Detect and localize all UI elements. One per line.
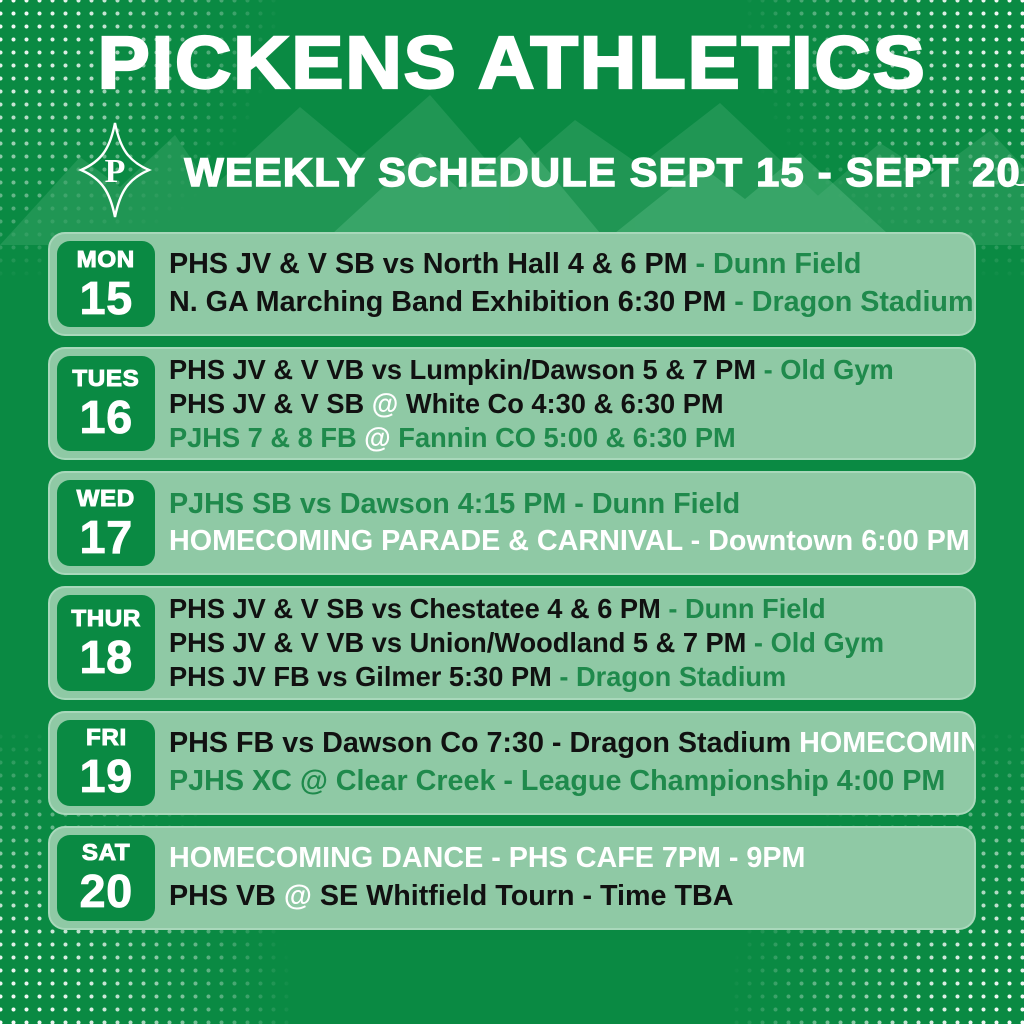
event-text-segment: - Dunn Field — [696, 248, 862, 280]
event-text-segment: PHS JV & V SB vs Chestatee 4 & 6 PM — [169, 593, 668, 624]
event-text-segment: PHS JV FB vs Gilmer 5:30 PM — [169, 661, 559, 692]
event-line: PHS JV & V VB vs Lumpkin/Dawson 5 & 7 PM… — [169, 353, 952, 387]
event-line: HOMECOMING DANCE - PHS CAFE 7PM - 9PM — [169, 840, 952, 878]
schedule-row-tues: TUES16PHS JV & V VB vs Lumpkin/Dawson 5 … — [48, 347, 976, 460]
day-of-week-label: THUR — [71, 607, 141, 630]
event-list: PJHS SB vs Dawson 4:15 PM - Dunn FieldHO… — [155, 473, 976, 573]
event-text-segment: @ — [372, 388, 399, 419]
event-text-segment: White Co 4:30 & 6:30 PM — [398, 388, 723, 419]
event-text-segment: - Old Gym — [754, 627, 884, 658]
event-text-segment: PJHS XC @ Clear Creek - League Champions… — [169, 765, 945, 797]
day-of-week-label: SAT — [82, 841, 130, 864]
schedule-row-thur: THUR18PHS JV & V SB vs Chestatee 4 & 6 P… — [48, 586, 976, 699]
event-text-segment: HOMECOMING DANCE - PHS CAFE 7PM - 9PM — [169, 842, 805, 874]
event-list: PHS JV & V SB vs North Hall 4 & 6 PM - D… — [155, 234, 976, 334]
day-number-label: 17 — [79, 514, 132, 560]
event-line: N. GA Marching Band Exhibition 6:30 PM -… — [169, 284, 973, 322]
page-title: PICKENS ATHLETICS — [0, 0, 1024, 100]
event-text-segment: PHS JV & V VB vs Lumpkin/Dawson 5 & 7 PM — [169, 354, 764, 385]
schedule-row-mon: MON15PHS JV & V SB vs North Hall 4 & 6 P… — [48, 232, 976, 336]
event-text-segment: PJHS 7 & 8 FB — [169, 422, 364, 453]
schedule-row-sat: SAT20HOMECOMING DANCE - PHS CAFE 7PM - 9… — [48, 826, 976, 930]
event-text-segment: SE Whitfield Tourn - Time TBA — [312, 880, 734, 912]
event-line: PHS JV & V SB vs Chestatee 4 & 6 PM - Du… — [169, 592, 952, 626]
event-text-segment: PJHS SB vs Dawson 4:15 PM - Dunn Field — [169, 488, 740, 520]
event-line: PHS VB @ SE Whitfield Tourn - Time TBA — [169, 878, 952, 916]
event-line: PJHS XC @ Clear Creek - League Champions… — [169, 763, 976, 801]
schedule-row-fri: FRI19PHS FB vs Dawson Co 7:30 - Dragon S… — [48, 711, 976, 815]
event-line: PHS JV & V SB vs North Hall 4 & 6 PM - D… — [169, 246, 973, 284]
event-text-segment: PHS JV & V SB — [169, 388, 372, 419]
day-badge: MON15 — [57, 241, 155, 327]
event-list: PHS FB vs Dawson Co 7:30 - Dragon Stadiu… — [155, 713, 976, 813]
weekly-schedule-list: MON15PHS JV & V SB vs North Hall 4 & 6 P… — [0, 220, 1024, 930]
day-number-label: 15 — [79, 275, 132, 321]
event-text-segment: HOMECOMING — [799, 727, 976, 759]
day-of-week-label: WED — [77, 487, 135, 510]
event-line: HOMECOMING PARADE & CARNIVAL - Downtown … — [169, 523, 970, 561]
event-text-segment: HOMECOMING PARADE & CARNIVAL - Downtown … — [169, 525, 970, 557]
poster-header: PICKENS ATHLETICS P WEEKLY SCHEDULE SEPT… — [0, 0, 1024, 220]
schedule-row-wed: WED17PJHS SB vs Dawson 4:15 PM - Dunn Fi… — [48, 471, 976, 575]
day-number-label: 19 — [79, 753, 132, 799]
event-text-segment: PHS VB — [169, 880, 284, 912]
day-of-week-label: TUES — [73, 367, 140, 390]
event-text-segment: PHS JV & V SB vs North Hall 4 & 6 PM — [169, 248, 696, 280]
day-badge: TUES16 — [57, 356, 155, 451]
event-line: PHS JV & V VB vs Union/Woodland 5 & 7 PM… — [169, 626, 952, 660]
pickens-diamond-logo: P — [78, 120, 152, 220]
day-number-label: 20 — [79, 868, 132, 914]
event-line: PHS FB vs Dawson Co 7:30 - Dragon Stadiu… — [169, 725, 976, 763]
event-text-segment: @ — [364, 422, 391, 453]
event-text-segment: - Dragon Stadium — [559, 661, 786, 692]
day-badge: WED17 — [57, 480, 155, 566]
day-of-week-label: FRI — [86, 726, 127, 749]
subtitle-text: WEEKLY SCHEDULE SEPT 15 - SEPT 20 — [174, 151, 1021, 196]
event-line: PJHS 7 & 8 FB @ Fannin CO 5:00 & 6:30 PM — [169, 421, 952, 455]
event-text-segment: - Dragon Stadium — [734, 286, 973, 318]
event-text-segment: - Old Gym — [764, 354, 894, 385]
event-text-segment: PHS FB vs Dawson Co 7:30 - Dragon Stadiu… — [169, 727, 799, 759]
day-number-label: 16 — [79, 394, 132, 440]
event-text-segment: - Dunn Field — [668, 593, 825, 624]
event-line: PHS JV FB vs Gilmer 5:30 PM - Dragon Sta… — [169, 660, 952, 694]
event-line: PJHS SB vs Dawson 4:15 PM - Dunn Field — [169, 486, 970, 524]
schedule-poster: PICKENS ATHLETICS P WEEKLY SCHEDULE SEPT… — [0, 0, 1024, 1024]
day-badge: FRI19 — [57, 720, 155, 806]
event-text-segment: Fannin CO 5:00 & 6:30 PM — [391, 422, 736, 453]
subtitle-bar: P WEEKLY SCHEDULE SEPT 15 - SEPT 20 — [0, 100, 1024, 220]
event-line: PHS JV & V SB @ White Co 4:30 & 6:30 PM — [169, 387, 952, 421]
event-text-segment: @ — [284, 880, 312, 912]
event-list: PHS JV & V SB vs Chestatee 4 & 6 PM - Du… — [155, 588, 974, 697]
day-badge: THUR18 — [57, 595, 155, 690]
day-of-week-label: MON — [77, 248, 135, 271]
day-badge: SAT20 — [57, 835, 155, 921]
logo-letter: P — [105, 153, 126, 190]
event-text-segment: PHS JV & V VB vs Union/Woodland 5 & 7 PM — [169, 627, 754, 658]
event-text-segment: N. GA Marching Band Exhibition 6:30 PM — [169, 286, 734, 318]
event-list: HOMECOMING DANCE - PHS CAFE 7PM - 9PMPHS… — [155, 828, 974, 928]
event-list: PHS JV & V VB vs Lumpkin/Dawson 5 & 7 PM… — [155, 349, 974, 458]
day-number-label: 18 — [79, 634, 132, 680]
